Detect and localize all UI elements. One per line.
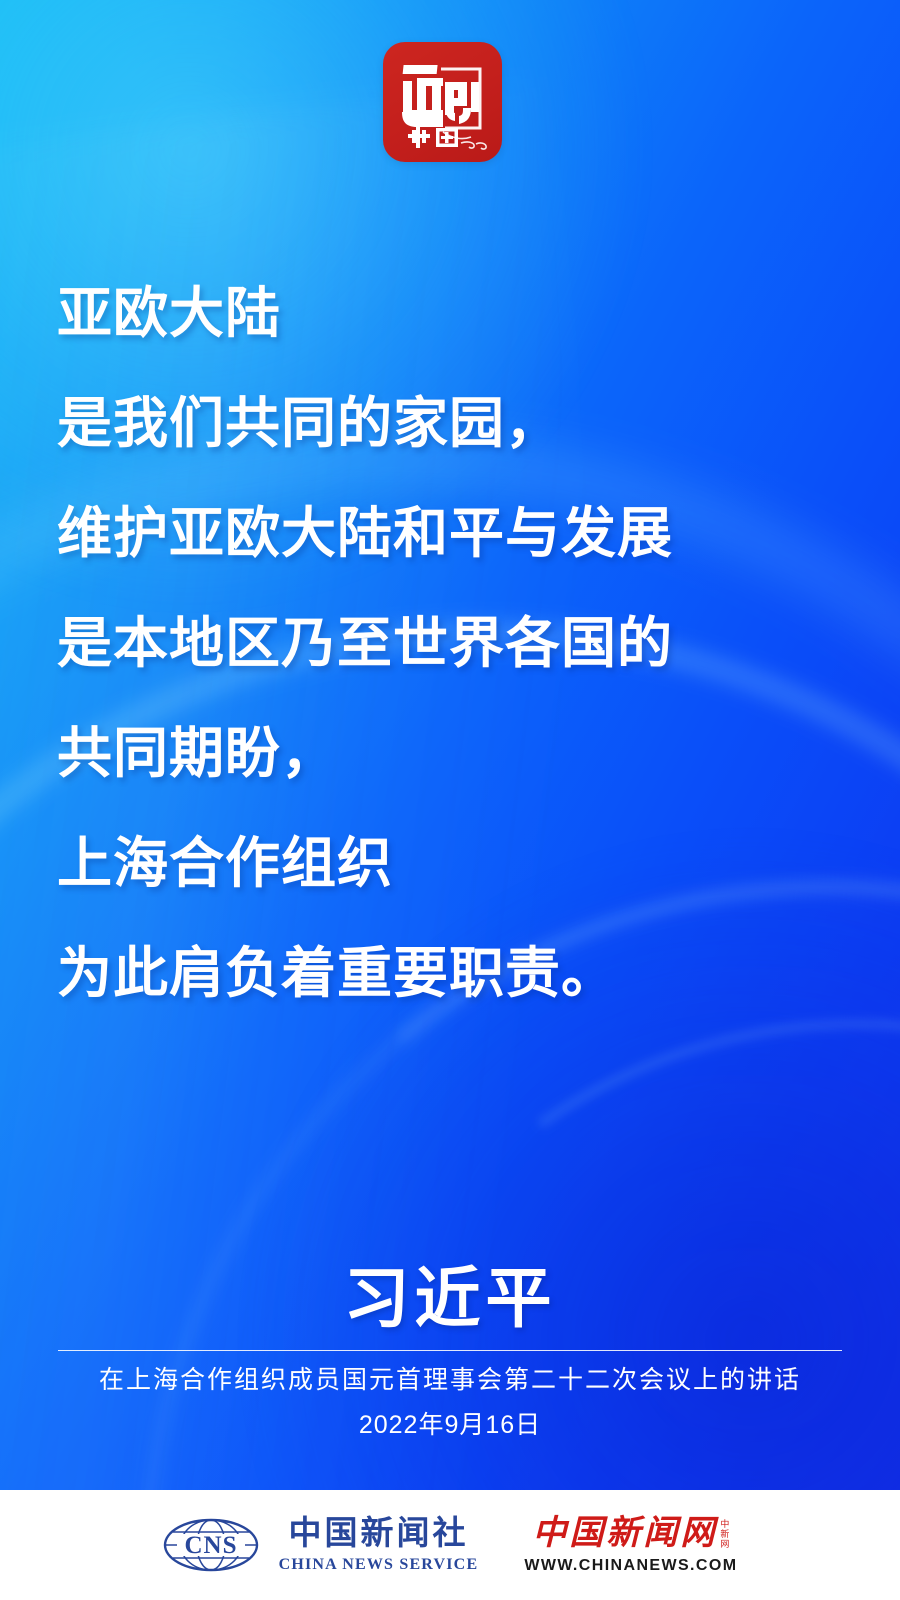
footer-logos: CNS 中国新闻社 CHINA NEWS SERVICE 中国新闻网 中 新 网… bbox=[163, 1517, 738, 1574]
speaker-name: 习近平 bbox=[0, 1262, 900, 1338]
chinanews-url: WWW.CHINANEWS.COM bbox=[524, 1558, 737, 1574]
attribution-block: 习近平 在上海合作组织成员国元首理事会第二十二次会议上的讲话 2022年9月16… bbox=[0, 1262, 900, 1445]
quote-line: 亚欧大陆 bbox=[57, 258, 847, 368]
quote-line: 维护亚欧大陆和平与发展 bbox=[57, 478, 847, 588]
chinanews-wordmark[interactable]: 中国新闻网 中 新 网 WWW.CHINANEWS.COM bbox=[524, 1517, 737, 1574]
cns-english-name: CHINA NEWS SERVICE bbox=[279, 1557, 479, 1573]
speech-date: 2022年9月16日 bbox=[0, 1405, 900, 1445]
attribution-divider bbox=[58, 1350, 842, 1351]
speech-occasion: 在上海合作组织成员国元首理事会第二十二次会议上的讲话 bbox=[0, 1357, 900, 1403]
jinguan-zhongguo-logo[interactable] bbox=[383, 42, 502, 162]
chinanews-vertical-char: 新 bbox=[720, 1529, 729, 1539]
chinanews-top-row: 中国新闻网 中 新 网 bbox=[532, 1517, 729, 1551]
chinanews-chinese-name: 中国新闻网 bbox=[532, 1517, 717, 1551]
china-news-service-wordmark: 中国新闻社 CHINA NEWS SERVICE bbox=[279, 1518, 479, 1573]
poster-canvas: 亚欧大陆 是我们共同的家园， 维护亚欧大陆和平与发展 是本地区乃至世界各国的 共… bbox=[0, 0, 900, 1600]
cns-globe-icon: CNS bbox=[163, 1517, 259, 1573]
quote-line: 共同期盼， bbox=[57, 698, 847, 808]
chinanews-vertical-char: 中 bbox=[720, 1519, 729, 1529]
quote-line: 是我们共同的家园， bbox=[57, 368, 847, 478]
chinanews-vertical-label: 中 新 网 bbox=[720, 1519, 729, 1549]
quote-line: 上海合作组织 bbox=[57, 808, 847, 918]
chinanews-vertical-char: 网 bbox=[720, 1539, 729, 1549]
cns-chinese-name: 中国新闻社 bbox=[288, 1518, 468, 1551]
footer-bar: CNS 中国新闻社 CHINA NEWS SERVICE 中国新闻网 中 新 网… bbox=[0, 1490, 900, 1600]
quote-line: 是本地区乃至世界各国的 bbox=[57, 588, 847, 698]
svg-text:CNS: CNS bbox=[184, 1532, 237, 1559]
quote-block: 亚欧大陆 是我们共同的家园， 维护亚欧大陆和平与发展 是本地区乃至世界各国的 共… bbox=[57, 258, 847, 1028]
quote-line: 为此肩负着重要职责。 bbox=[57, 918, 847, 1028]
